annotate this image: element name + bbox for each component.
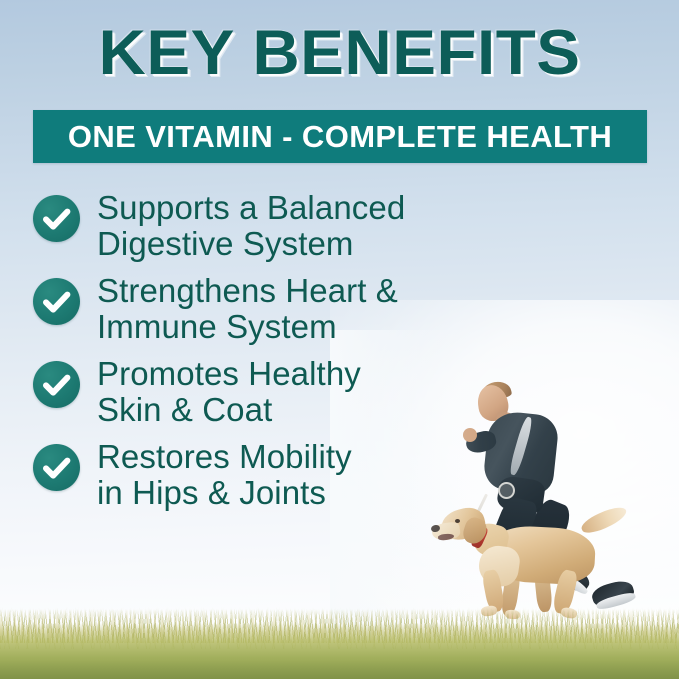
benefit-label: Supports a Balanced Digestive System xyxy=(97,190,405,262)
benefit-item: Supports a Balanced Digestive System xyxy=(33,192,453,262)
check-icon xyxy=(33,361,80,408)
check-icon xyxy=(33,444,80,491)
subtitle-banner: ONE VITAMIN - COMPLETE HEALTH xyxy=(33,110,647,163)
benefit-item: Strengthens Heart & Immune System xyxy=(33,275,453,345)
benefit-label: Promotes Healthy Skin & Coat xyxy=(97,356,361,428)
benefit-item: Restores Mobility in Hips & Joints xyxy=(33,441,453,511)
subtitle-text: ONE VITAMIN - COMPLETE HEALTH xyxy=(68,119,612,155)
runner-fist xyxy=(463,428,477,442)
benefit-item: Promotes Healthy Skin & Coat xyxy=(33,358,453,428)
page-title: KEY BENEFITS xyxy=(0,22,679,85)
benefit-label: Strengthens Heart & Immune System xyxy=(97,273,398,345)
benefits-list: Supports a Balanced Digestive System Str… xyxy=(33,192,453,524)
dog-eye xyxy=(455,519,460,523)
check-icon xyxy=(33,278,80,325)
leash-clip-icon xyxy=(498,482,515,499)
grass-shadow xyxy=(0,659,679,679)
grass-field xyxy=(0,607,679,679)
benefit-label: Restores Mobility in Hips & Joints xyxy=(97,439,352,511)
key-benefits-poster: KEY BENEFITS ONE VITAMIN - COMPLETE HEAL… xyxy=(0,0,679,679)
check-icon xyxy=(33,195,80,242)
